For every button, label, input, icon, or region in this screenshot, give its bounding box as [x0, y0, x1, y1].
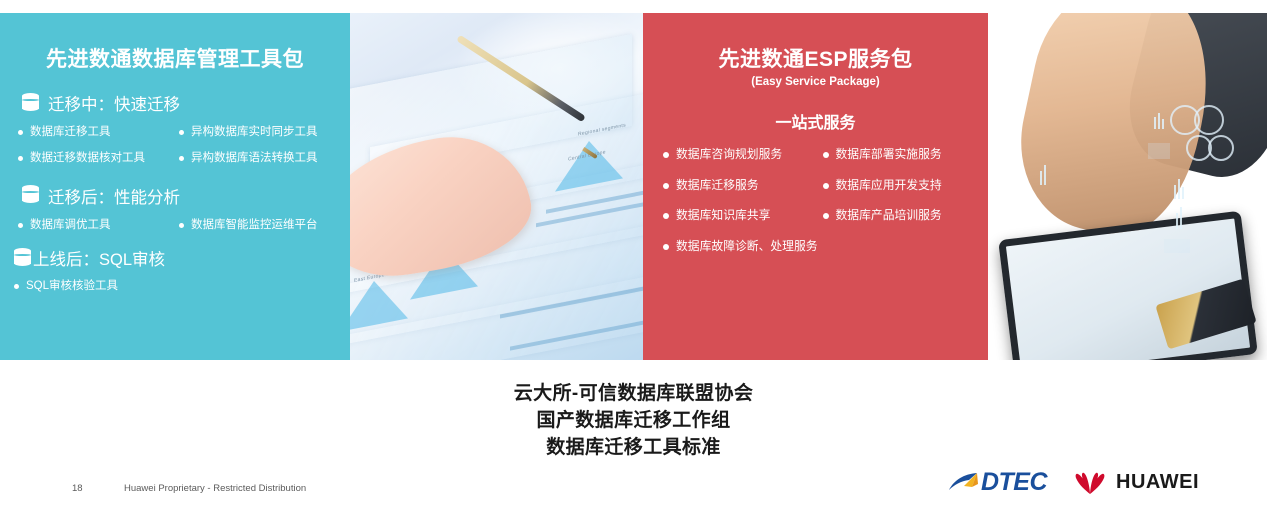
list-item-label: SQL审核核验工具 — [26, 279, 118, 293]
list-item-label: 数据库部署实施服务 — [836, 147, 942, 162]
holo-bar-icon — [1154, 117, 1156, 129]
bullet-dot-icon — [18, 156, 23, 161]
list-item: 数据库知识库共享 — [663, 208, 813, 223]
holo-panel — [1148, 143, 1170, 159]
bullet-dot-icon — [18, 130, 23, 135]
list-item-label: 数据库迁移工具 — [30, 125, 111, 139]
huawei-logo: HUAWEI — [1073, 470, 1199, 496]
list-item-label: 异构数据库语法转换工具 — [191, 151, 318, 165]
list-item-label: 数据库故障诊断、处理服务 — [676, 239, 818, 254]
bullet-dot-icon — [823, 152, 829, 158]
bullet-dot-icon — [663, 244, 669, 250]
list-item: 数据库部署实施服务 — [823, 147, 973, 162]
confidentiality-notice: Huawei Proprietary - Restricted Distribu… — [124, 483, 306, 494]
holo-bar-icon — [1158, 113, 1160, 129]
list-item-label: 数据库咨询规划服务 — [676, 147, 782, 162]
left-panel-title: 先进数通数据库管理工具包 — [14, 43, 336, 73]
bullet-dot-icon — [823, 183, 829, 189]
list-item: 数据库迁移服务 — [663, 178, 813, 193]
database-icon — [22, 185, 39, 206]
caption-line-2: 国产数据库迁移工作组 — [0, 408, 1267, 435]
caption-line-3: 数据库迁移工具标准 — [0, 435, 1267, 462]
section-heading-sql-review: 上线后：SQL审核 — [14, 246, 336, 270]
right-panel-title: 先进数通ESP服务包 — [659, 43, 972, 73]
bullet-dot-icon — [663, 152, 669, 158]
holo-bar-icon — [1182, 187, 1184, 199]
holo-bar-icon — [1044, 165, 1046, 185]
hand-writing-charts-photo: Regional segments Central Europe West Eu… — [350, 13, 650, 360]
list-item-label: 数据库产品培训服务 — [836, 208, 942, 223]
esp-services-list: 数据库咨询规划服务 数据库部署实施服务 数据库迁移服务 数据库应用开发支持 数据… — [663, 147, 972, 254]
list-item: 数据迁移数据核对工具 — [18, 151, 175, 165]
list-item: 数据库应用开发支持 — [823, 178, 973, 193]
hero-band: Regional segments Central Europe West Eu… — [0, 13, 1267, 360]
dtec-logo: DTEC — [948, 468, 1047, 497]
list-item-label: 异构数据库实时同步工具 — [191, 125, 318, 139]
bullet-dot-icon — [663, 213, 669, 219]
list-item-label: 数据库调优工具 — [30, 218, 111, 232]
list-item: 数据库故障诊断、处理服务 — [663, 239, 972, 254]
holo-bar-icon — [1178, 179, 1180, 199]
database-icon — [14, 248, 31, 269]
bullet-dot-icon — [823, 213, 829, 219]
section-label: 迁移后：性能分析 — [48, 184, 180, 208]
list-item: 数据库迁移工具 — [18, 125, 175, 139]
logo-row: DTEC HUAWEI — [948, 468, 1199, 497]
bullet-dot-icon — [179, 223, 184, 228]
huawei-flower-icon — [1073, 470, 1107, 496]
holo-bar-icon — [1162, 119, 1164, 129]
list-item-label: 数据库知识库共享 — [676, 208, 770, 223]
section-label: 上线后：SQL审核 — [33, 246, 165, 270]
list-item: 异构数据库实时同步工具 — [179, 125, 336, 139]
page-number: 18 — [72, 483, 83, 494]
section-heading-migration: 迁移中：快速迁移 — [22, 91, 336, 115]
list-item: 数据库咨询规划服务 — [663, 147, 813, 162]
database-icon — [22, 93, 39, 114]
bullet-dot-icon — [18, 223, 23, 228]
holo-ring-icon — [1208, 135, 1234, 161]
list-item-label: 数据库应用开发支持 — [836, 178, 942, 193]
bullet-dot-icon — [663, 183, 669, 189]
caption-block: 云大所-可信数据库联盟协会 国产数据库迁移工作组 数据库迁移工具标准 — [0, 381, 1267, 462]
list-item: 数据库产品培训服务 — [823, 208, 973, 223]
list-item: 异构数据库语法转换工具 — [179, 151, 336, 165]
list-item-label: 数据迁移数据核对工具 — [30, 151, 145, 165]
list-item: SQL审核核验工具 — [14, 279, 173, 293]
migration-tools-list: 数据库迁移工具 异构数据库实时同步工具 数据迁移数据核对工具 异构数据库语法转换… — [18, 125, 336, 166]
bullet-dot-icon — [179, 130, 184, 135]
right-panel-subtitle: (Easy Service Package) — [659, 76, 972, 88]
section-heading-performance: 迁移后：性能分析 — [22, 184, 336, 208]
bullet-dot-icon — [179, 156, 184, 161]
right-red-panel: 先进数通ESP服务包 (Easy Service Package) 一站式服务 … — [643, 13, 988, 360]
holo-ring-icon — [1194, 105, 1224, 135]
huawei-wordmark: HUAWEI — [1116, 471, 1199, 494]
finger-touching-tablet-photo — [988, 13, 1267, 360]
list-item-label: 数据库智能监控运维平台 — [191, 218, 318, 232]
sql-tools-list: SQL审核核验工具 — [14, 279, 336, 293]
holo-panel — [1164, 239, 1190, 253]
performance-tools-list: 数据库调优工具 数据库智能监控运维平台 — [18, 218, 336, 232]
dtec-wordmark: DTEC — [981, 468, 1047, 497]
holo-bar-icon — [1176, 213, 1178, 229]
holo-bar-icon — [1180, 207, 1182, 229]
section-label: 迁移中：快速迁移 — [48, 91, 180, 115]
right-panel-section-heading: 一站式服务 — [659, 109, 972, 133]
list-item: 数据库智能监控运维平台 — [179, 218, 336, 232]
list-item: 数据库调优工具 — [18, 218, 175, 232]
list-item-label: 数据库迁移服务 — [676, 178, 759, 193]
dtec-mark-icon — [948, 471, 980, 495]
holo-bar-icon — [1040, 171, 1042, 185]
holo-bar-icon — [1174, 185, 1176, 199]
bullet-dot-icon — [14, 284, 19, 289]
caption-line-1: 云大所-可信数据库联盟协会 — [0, 381, 1267, 408]
left-teal-panel: 先进数通数据库管理工具包 迁移中：快速迁移 数据库迁移工具 异构数据库实时同步工… — [0, 13, 350, 360]
